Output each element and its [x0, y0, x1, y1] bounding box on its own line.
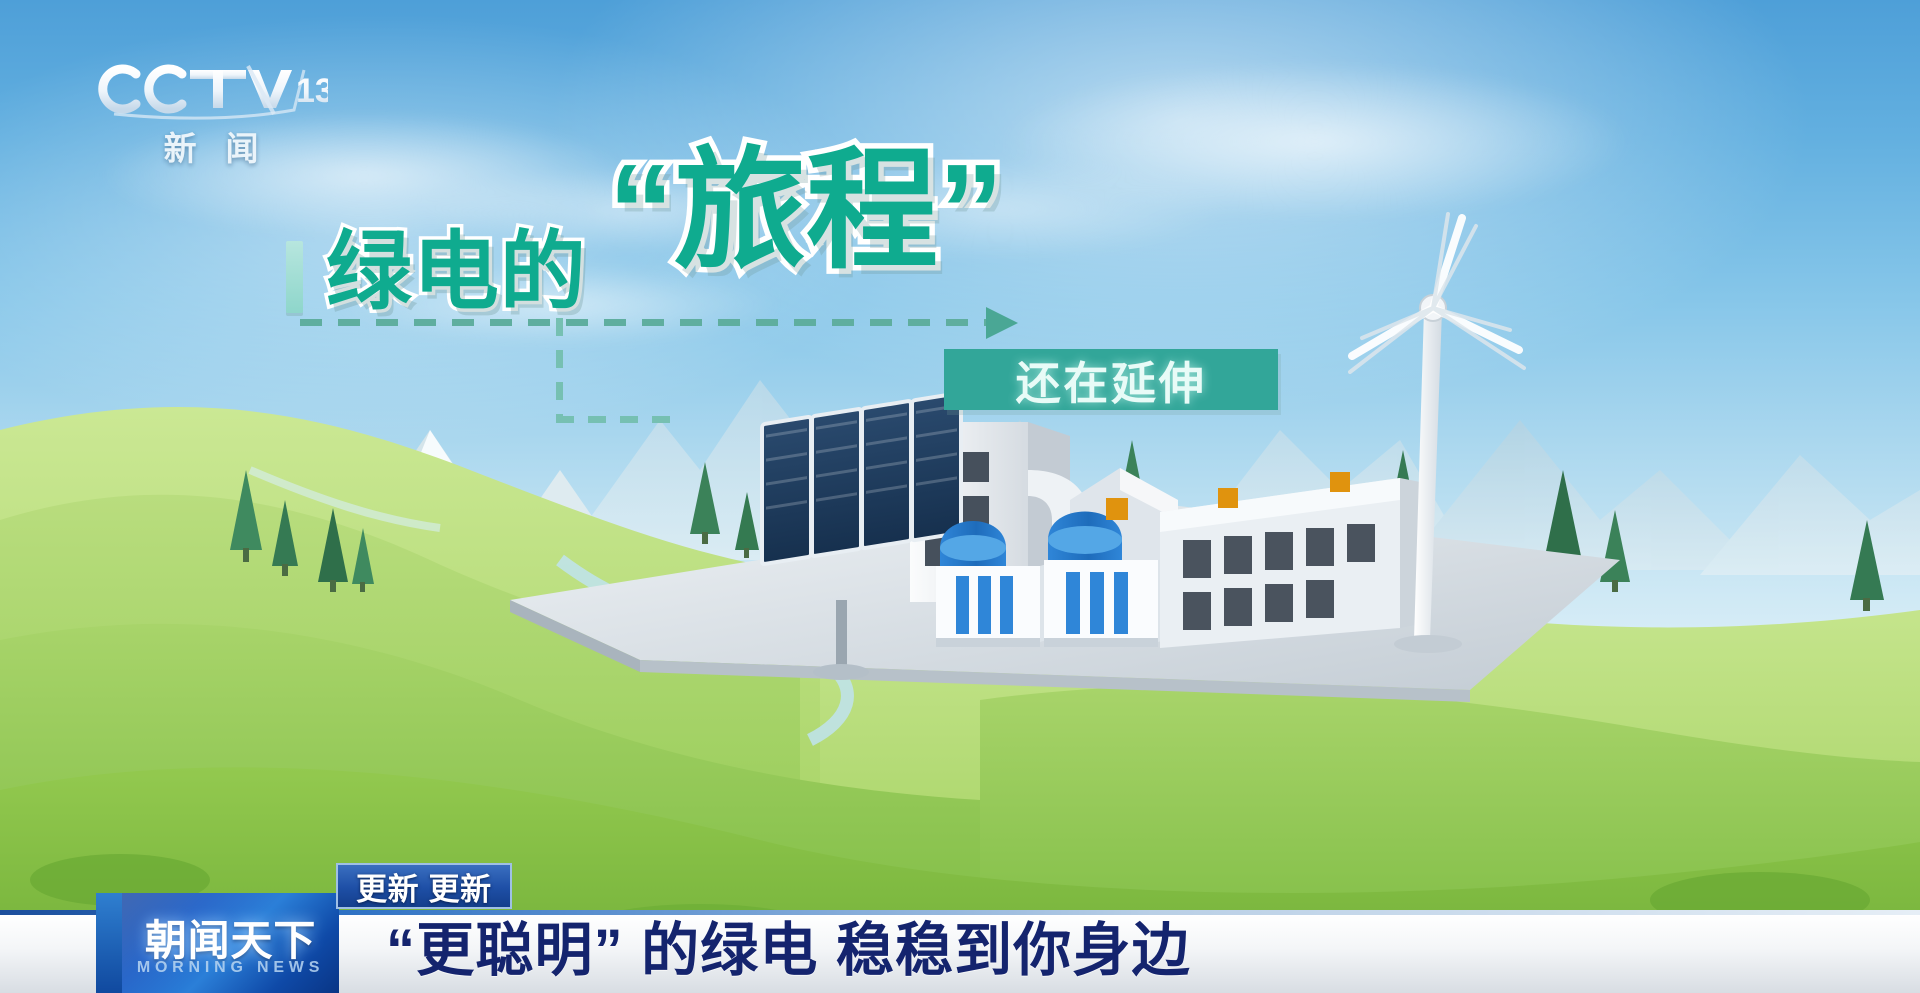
status-badge-label: 还在延伸	[1016, 347, 1207, 412]
status-badge-extending: 还在延伸	[944, 349, 1278, 410]
flow-dashed-drop	[556, 318, 563, 418]
flow-dashed-line	[300, 319, 990, 326]
title-quoted-word: “旅程”	[608, 145, 1004, 277]
title-line-1: 绿电的	[326, 229, 587, 315]
broadcast-frame: 13 新 闻 绿电的 “旅程” 还在延伸 朝闻天下 MORNING NEWS 更…	[0, 0, 1920, 993]
lower-third-left-edge	[96, 893, 122, 993]
lower-third: 朝闻天下 MORNING NEWS 更新 更新 “更聪明” 的绿电 稳稳到你身边	[0, 886, 1920, 993]
title-accent-bar	[286, 241, 303, 313]
program-logo: 朝闻天下 MORNING NEWS	[122, 893, 339, 993]
cctv-wordmark: 13	[98, 58, 328, 120]
flow-dashed-connector	[556, 416, 676, 423]
flow-arrow	[300, 312, 1020, 334]
flow-arrow-head-icon	[986, 307, 1018, 339]
kicker-label: 更新 更新	[356, 864, 492, 909]
channel-subtitle: 新 闻	[126, 122, 306, 170]
channel-number: 13	[296, 72, 328, 110]
program-name-en: MORNING NEWS	[122, 959, 339, 977]
channel-logo: 13 新 闻	[98, 58, 328, 168]
headline-text: “更聪明” 的绿电 稳稳到你身边	[386, 903, 1191, 987]
